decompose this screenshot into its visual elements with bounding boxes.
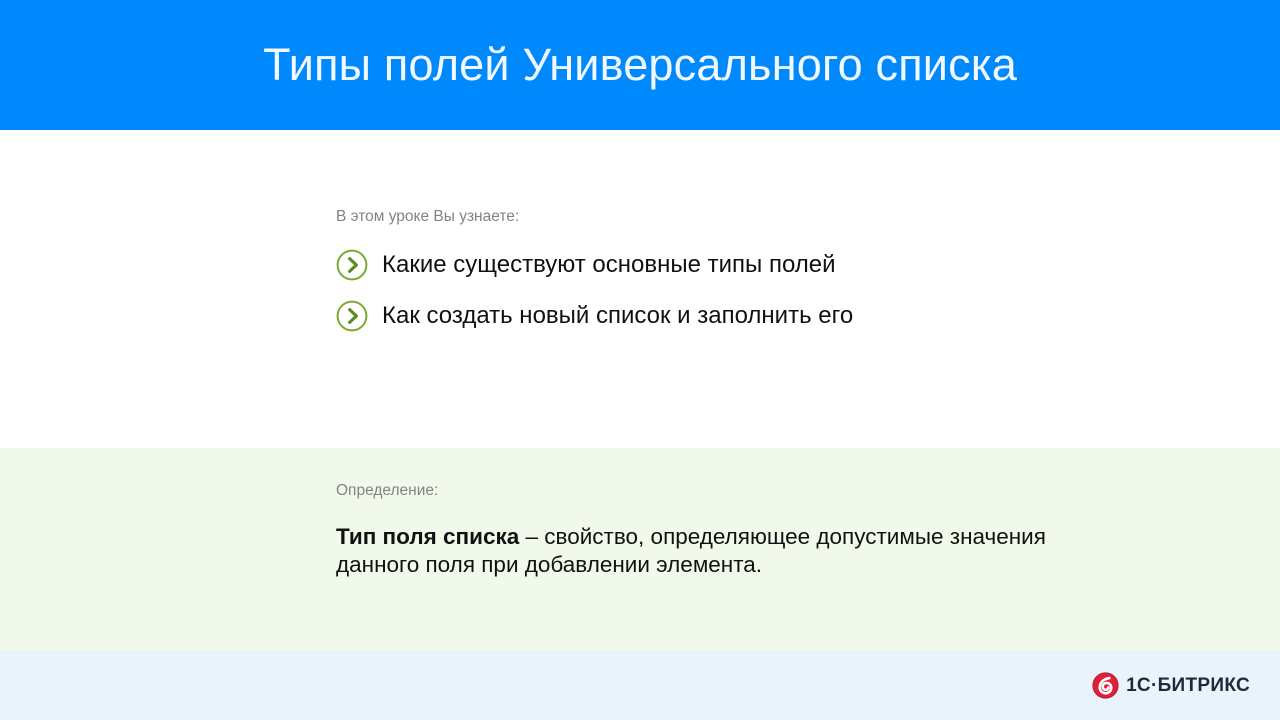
chevron-right-circle-icon — [336, 249, 368, 281]
chevron-right-circle-icon — [336, 300, 368, 332]
intro-kicker: В этом уроке Вы узнаете: — [336, 208, 1136, 227]
list-item: Как создать новый список и заполнить его — [336, 300, 1136, 332]
bitrix-b-icon — [1092, 672, 1119, 699]
brand-logo: 1С·БИТРИКС — [1092, 670, 1250, 700]
brand-logo-text: 1С·БИТРИКС — [1126, 676, 1250, 695]
objectives-list: Какие существуют основные типы полей Как… — [336, 249, 1136, 332]
definition-content: Определение: Тип поля списка – свойство,… — [336, 482, 1096, 580]
header-band: Типы полей Универсального списка — [0, 0, 1280, 130]
definition-kicker: Определение: — [336, 482, 1096, 501]
definition-text: Тип поля списка – свойство, определяющее… — [336, 523, 1096, 581]
list-item: Какие существуют основные типы полей — [336, 249, 1136, 281]
list-item-label: Какие существуют основные типы полей — [382, 251, 836, 279]
page-title: Типы полей Универсального списка — [263, 40, 1017, 90]
intro-section: В этом уроке Вы узнаете: Какие существую… — [0, 130, 1280, 448]
list-item-label: Как создать новый список и заполнить его — [382, 302, 853, 330]
footer-band: 1С·БИТРИКС — [0, 650, 1280, 720]
definition-section: Определение: Тип поля списка – свойство,… — [0, 448, 1280, 650]
slide: Типы полей Универсального списка В этом … — [0, 0, 1280, 720]
definition-term: Тип поля списка — [336, 524, 519, 549]
intro-content: В этом уроке Вы узнаете: Какие существую… — [336, 208, 1136, 351]
